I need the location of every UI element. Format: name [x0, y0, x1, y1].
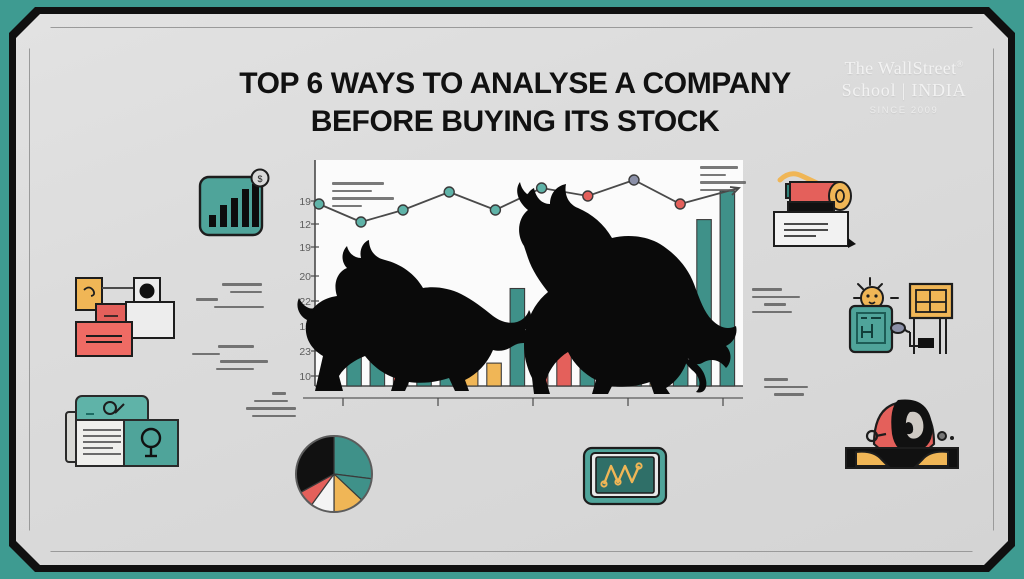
idea-board-icon[interactable]: [848, 274, 958, 362]
poster-stage: TOP 6 WAYS TO ANALYSE A COMPANY BEFORE B…: [0, 0, 1024, 579]
brand-name-text: The WallStreet: [844, 58, 956, 78]
decor-lines-chart-top: [332, 182, 402, 212]
brand-name-line-2: School | INDIA: [819, 80, 989, 102]
registered-mark: ®: [956, 59, 963, 69]
pie-slice: [334, 436, 372, 479]
title-line-1: TOP 6 WAYS TO ANALYSE A COMPANY: [239, 67, 791, 100]
brand-name-line-1: The WallStreet®: [819, 58, 989, 80]
documents-card-icon[interactable]: [66, 272, 186, 364]
brand-tagline: SINCE 2009: [819, 105, 989, 117]
pie-chart-icon[interactable]: [288, 430, 380, 518]
trend-marker: [314, 199, 324, 209]
folder-research-icon[interactable]: [58, 390, 184, 476]
monitor-trend-icon[interactable]: [580, 444, 670, 508]
bull-silhouette: [488, 182, 743, 394]
brand-logo: The WallStreet® School | INDIA SINCE 200…: [819, 58, 989, 116]
page-title: TOP 6 WAYS TO ANALYSE A COMPANY BEFORE B…: [150, 65, 880, 142]
trend-marker: [444, 187, 454, 197]
decor-lines-left-upper: [196, 283, 274, 313]
title-line-2: BEFORE BUYING ITS STOCK: [150, 103, 880, 141]
bar-chart-badge-icon[interactable]: $: [196, 167, 272, 243]
svg-text:$: $: [257, 174, 262, 184]
stamp-document-icon[interactable]: [766, 166, 858, 254]
decor-lines-chart-top-right: [700, 166, 750, 196]
decor-lines-right-upper: [752, 288, 828, 318]
trend-marker: [356, 217, 366, 227]
decor-lines-left-lower: [192, 345, 272, 375]
decor-lines-right-lower: [764, 378, 834, 401]
decor-lines-left-bottom: [236, 392, 306, 422]
analyst-person-icon[interactable]: [840, 392, 964, 470]
